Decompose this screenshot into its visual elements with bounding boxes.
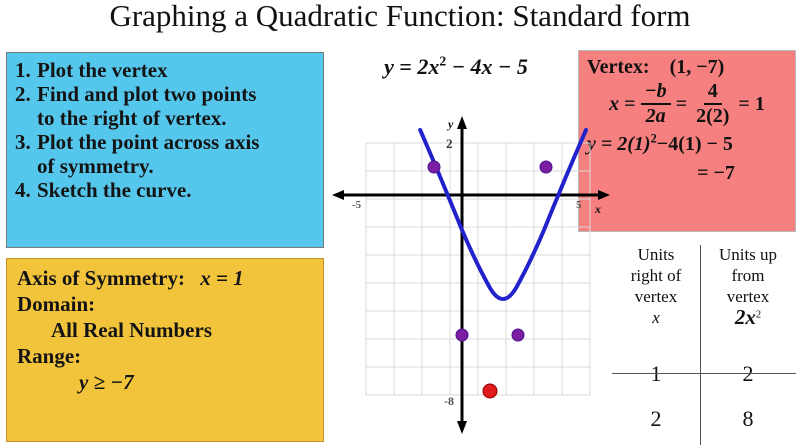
vertex-x-result: = 1 <box>738 93 764 116</box>
table-header-divider <box>612 373 796 374</box>
table-header-row: Units right of vertex x Units up from ve… <box>612 243 796 357</box>
table-row: 2 8 <box>612 402 796 448</box>
page-title: Graphing a Quadratic Function: Standard … <box>0 0 800 34</box>
equation-exponent: 2 <box>439 54 446 69</box>
header-expression: 2x2 <box>700 306 796 328</box>
properties-panel: Axis of Symmetry: x = 1 Domain: All Real… <box>6 258 324 442</box>
point-plotted-3 <box>540 161 552 173</box>
header-line-3: vertex <box>612 285 700 306</box>
step-label: Find and plot two points <box>37 83 317 106</box>
function-equation: y = 2x2 − 4x − 5 <box>340 54 572 80</box>
vertex-x-equals-1: = <box>624 93 635 116</box>
vertex-label: Vertex: <box>587 56 650 79</box>
step-number: 4. <box>15 179 37 202</box>
vertex-y-tail: −4(1) − 5 <box>657 133 733 155</box>
vertex-y-result: = −7 <box>587 162 787 185</box>
equation-equals: = <box>399 54 412 79</box>
y-axis-bottom-arrowhead <box>457 421 467 434</box>
y-tick-label-max: 2 <box>446 136 453 151</box>
y-axis-name: y <box>446 117 454 131</box>
x-axis-left-arrowhead <box>332 190 344 200</box>
parabola-graph: -5 5 2 -8 y x <box>330 112 612 448</box>
x-tick-label-min: -5 <box>352 199 362 211</box>
equation-rhs: 2x <box>417 54 439 79</box>
x-tick-label-max: 5 <box>576 199 582 211</box>
slide-canvas: Graphing a Quadratic Function: Standard … <box>0 0 800 448</box>
table-row: 1 2 <box>612 357 796 403</box>
vertex-point: (1, −7) <box>670 56 725 79</box>
fraction-4-over-2times2: 4 2(2) <box>692 81 733 127</box>
fraction-numerator: −b <box>641 81 671 105</box>
vertex-x-equals-2: = <box>676 93 687 116</box>
point-reflected-0 <box>456 329 468 341</box>
table-header-left: Units right of vertex x <box>612 243 700 357</box>
x-axis-right-arrowhead <box>598 190 610 200</box>
table-header-right: Units up from vertex 2x2 <box>700 243 796 357</box>
vertex-y-formula: y = 2(1)2−4(1) − 5 <box>587 133 787 156</box>
table-cell-y: 8 <box>700 402 796 448</box>
vertex-x-formula: x = −b 2a = 4 2(2) = 1 <box>587 81 787 127</box>
point-reflected-neg1 <box>428 161 440 173</box>
list-item: 1. Plot the vertex <box>15 59 317 82</box>
header-variable-x: x <box>612 306 700 327</box>
domain-label: Domain: <box>17 291 315 317</box>
header-expression-exponent: 2 <box>756 309 761 320</box>
values-table: Units right of vertex x Units up from ve… <box>612 243 796 448</box>
point-vertex <box>483 384 497 398</box>
header-line-1: Units <box>612 243 700 264</box>
y-axis-top-arrowhead <box>457 116 467 129</box>
step-label: Plot the point across axis <box>37 131 317 154</box>
table-element: Units right of vertex x Units up from ve… <box>612 243 796 448</box>
header-expression-base: 2x <box>735 305 756 329</box>
step-label: Plot the vertex <box>37 59 317 82</box>
list-item: 3. Plot the point across axis <box>15 131 317 154</box>
step-label: Sketch the curve. <box>37 179 317 202</box>
vertex-title-row: Vertex: (1, −7) <box>587 56 787 79</box>
list-item: 2. Find and plot two points <box>15 83 317 106</box>
equation-tail: − 4x − 5 <box>452 54 528 79</box>
parabola-curve <box>420 130 586 299</box>
fraction-b-over-2a: −b 2a <box>641 81 671 127</box>
step-number: 2. <box>15 83 37 106</box>
x-axis-name: x <box>594 202 601 216</box>
header-line-1: Units up <box>700 243 796 264</box>
y-tick-label-min: -8 <box>444 394 454 408</box>
axis-of-symmetry-label: Axis of Symmetry: <box>17 266 185 290</box>
table-cell-x: 1 <box>612 357 700 403</box>
step-number: 1. <box>15 59 37 82</box>
step-label-continued: to the right of vertex. <box>15 107 317 130</box>
fraction-denominator: 2a <box>642 105 670 127</box>
step-label-continued: of symmetry. <box>15 155 317 178</box>
domain-value: All Real Numbers <box>17 317 315 343</box>
fraction-denominator: 2(2) <box>692 105 733 127</box>
graph-svg: -5 5 2 -8 y x <box>330 112 612 448</box>
table-cell-x: 2 <box>612 402 700 448</box>
header-line-3: vertex <box>700 285 796 306</box>
header-line-2: right of <box>612 264 700 285</box>
equation-lhs: y <box>384 54 394 79</box>
table-column-divider <box>700 245 701 445</box>
range-label: Range: <box>17 343 315 369</box>
axis-of-symmetry-value: x = 1 <box>190 266 243 290</box>
step-number: 3. <box>15 131 37 154</box>
axis-of-symmetry-row: Axis of Symmetry: x = 1 <box>17 265 315 291</box>
table-cell-y: 2 <box>700 357 796 403</box>
range-value: y ≥ −7 <box>17 369 315 395</box>
point-plotted-2 <box>512 329 524 341</box>
header-line-2: from <box>700 264 796 285</box>
steps-panel: 1. Plot the vertex 2. Find and plot two … <box>6 52 324 248</box>
fraction-numerator: 4 <box>704 81 722 105</box>
list-item: 4. Sketch the curve. <box>15 179 317 202</box>
